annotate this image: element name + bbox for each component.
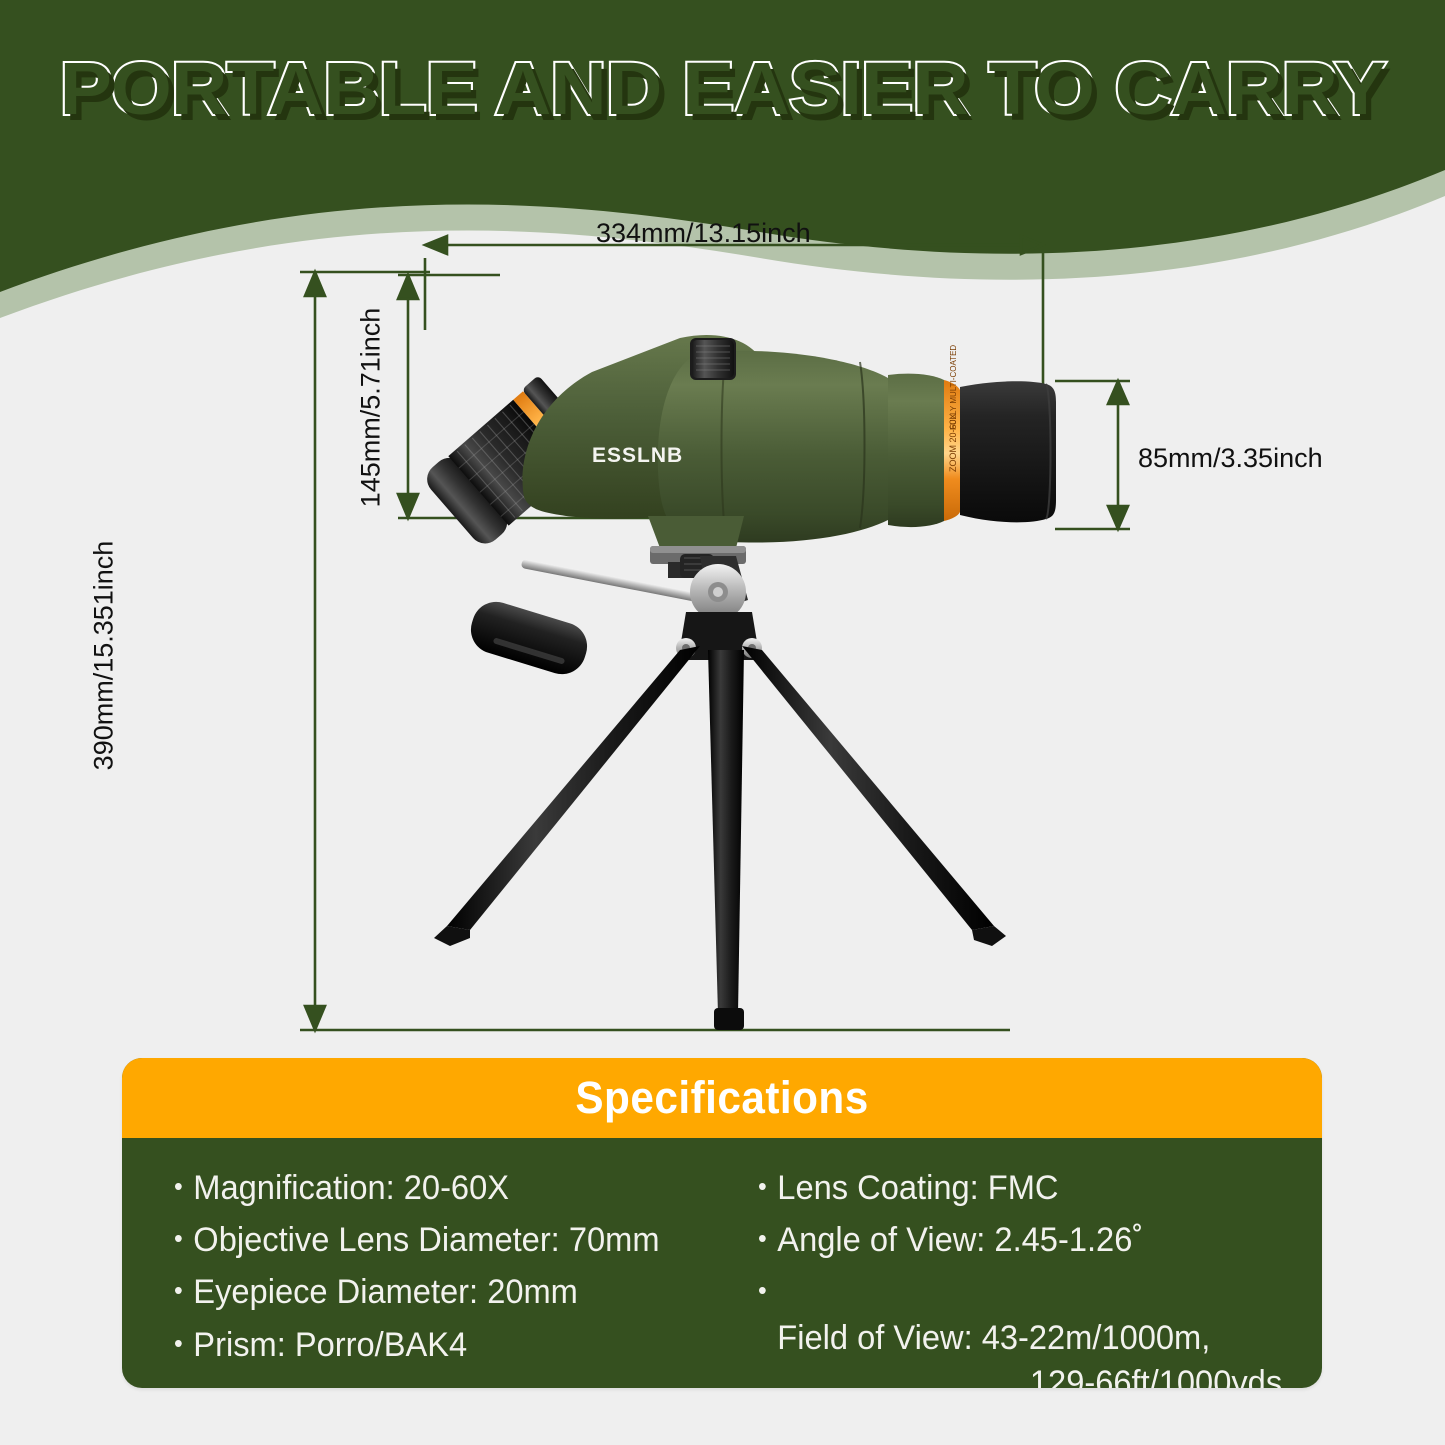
bullet-icon: •	[758, 1270, 767, 1312]
page-title: PORTABLE AND EASIER TO CARRY	[0, 46, 1445, 131]
bullet-icon: •	[174, 1218, 183, 1260]
bullet-icon: •	[174, 1270, 183, 1312]
spec-text: Objective Lens Diameter: 70mm	[193, 1218, 715, 1263]
dimension-label-body-height: 145mm/5.71inch	[356, 218, 387, 598]
brand-logo: ESSLNB	[592, 444, 683, 467]
spec-text-line2: 129-66ft/1000yds	[777, 1361, 1299, 1388]
tripod-leg-center	[708, 650, 744, 1014]
dimension-label-objective-diameter: 85mm/3.35inch	[1138, 443, 1323, 474]
objective-ring-text-2: FULLY MULTI-COATED	[949, 345, 958, 430]
specifications-heading: Specifications	[575, 1072, 868, 1124]
bullet-icon: •	[758, 1166, 767, 1208]
dimension-label-total-height: 390mm/15.351inch	[89, 456, 120, 856]
product-dimension-diagram: ESSLNB ZOOM 20-60	[0, 0, 1445, 1045]
spec-item: • Lens Coating: FMC	[758, 1166, 1299, 1211]
bullet-icon: •	[758, 1218, 767, 1260]
specifications-body: • Magnification: 20-60X • Objective Lens…	[122, 1138, 1322, 1388]
spec-item: • Objective Lens Diameter: 70mm	[174, 1218, 715, 1263]
spec-text: Prism: Porro/BAK4	[193, 1323, 715, 1368]
spec-column-left: • Magnification: 20-60X • Objective Lens…	[122, 1166, 738, 1388]
spec-item: • Eyepiece Diameter: 20mm	[174, 1270, 715, 1315]
objective-lens-hood	[960, 381, 1056, 522]
focus-knob[interactable]	[690, 338, 736, 380]
spec-item-field-of-view: • Field of View: 43-22m/1000m, 129-66ft/…	[758, 1270, 1299, 1388]
scope-body	[658, 351, 888, 543]
spec-text-wrap: Field of View: 43-22m/1000m, 129-66ft/10…	[777, 1270, 1299, 1388]
spec-text: Magnification: 20-60X	[193, 1166, 715, 1211]
specifications-panel: Specifications • Magnification: 20-60X •…	[122, 1058, 1322, 1388]
specifications-header: Specifications	[122, 1058, 1322, 1138]
infographic-page: PORTABLE AND EASIER TO CARRY	[0, 0, 1445, 1445]
spec-column-right: • Lens Coating: FMC • Angle of View: 2.4…	[738, 1166, 1322, 1388]
spec-text: Lens Coating: FMC	[777, 1166, 1299, 1211]
spec-item: • Prism: Porro/BAK4	[174, 1323, 715, 1368]
tripod-foot-center	[714, 1008, 744, 1030]
spec-text: Eyepiece Diameter: 20mm	[193, 1270, 715, 1315]
bullet-icon: •	[174, 1166, 183, 1208]
tripod-leg-left	[447, 646, 700, 930]
objective-taper	[888, 374, 944, 527]
spec-text: Angle of View: 2.45-1.26˚	[777, 1218, 1299, 1263]
spec-text: Field of View: 43-22m/1000m,	[777, 1319, 1210, 1357]
spec-item: • Magnification: 20-60X	[174, 1166, 715, 1211]
spec-item: • Angle of View: 2.45-1.26˚	[758, 1218, 1299, 1263]
dimension-label-width: 334mm/13.15inch	[596, 218, 811, 249]
bullet-icon: •	[174, 1323, 183, 1365]
tripod	[434, 554, 1006, 1030]
product-illustration: ESSLNB ZOOM 20-60	[0, 0, 1445, 1045]
tripod-leg-right	[742, 646, 994, 930]
spotting-scope: ESSLNB ZOOM 20-60	[421, 335, 1056, 578]
